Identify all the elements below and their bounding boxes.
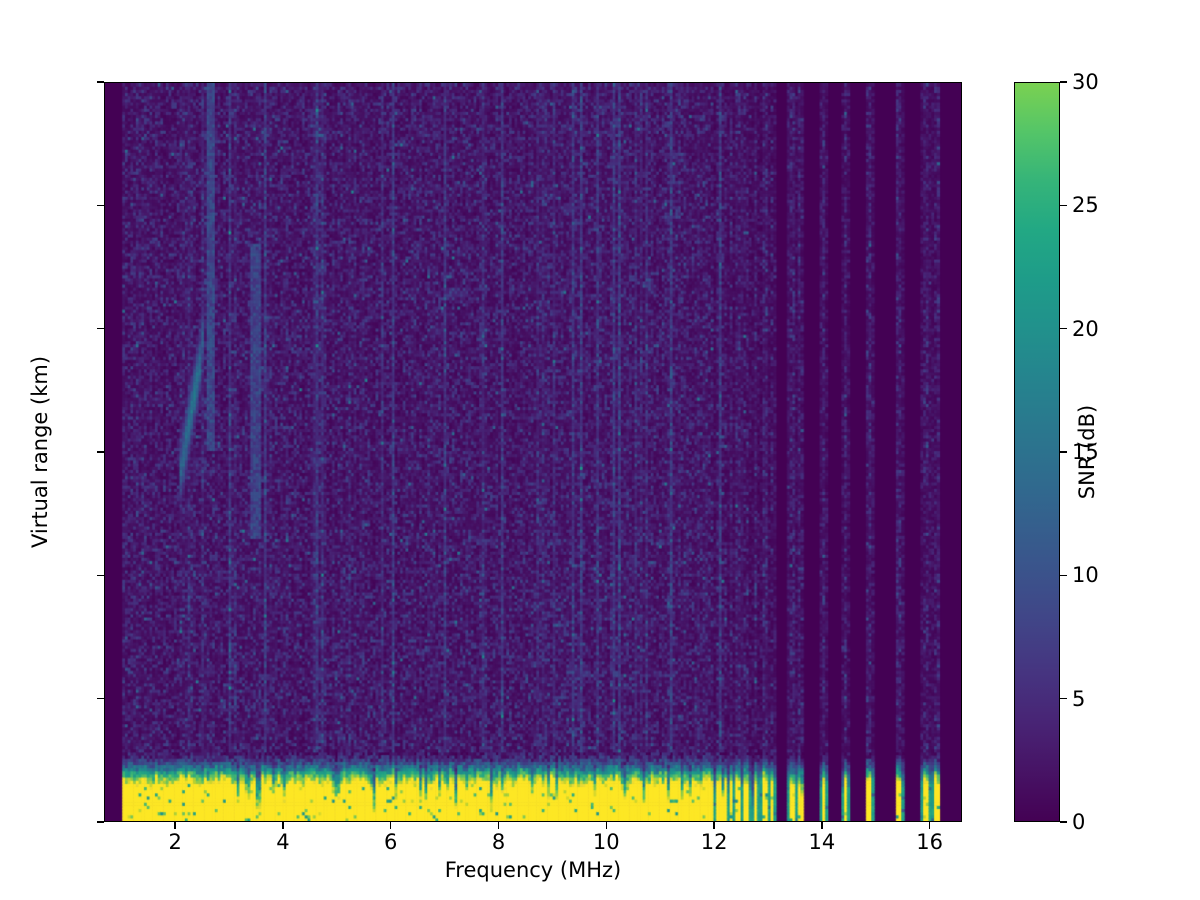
y-axis-label: Virtual range (km) <box>28 356 52 548</box>
y-tick-mark <box>97 698 104 699</box>
colorbar-tick-label: 25 <box>1072 195 1142 216</box>
x-tick-mark <box>821 822 822 829</box>
y-tick-mark <box>97 81 104 82</box>
x-tick-mark <box>282 822 283 829</box>
colorbar <box>1014 82 1060 822</box>
x-tick-label: 10 <box>566 832 646 853</box>
colorbar-tick-mark <box>1060 451 1067 452</box>
x-tick-label: 4 <box>243 832 323 853</box>
colorbar-tick-label: 10 <box>1072 565 1142 586</box>
x-tick-mark <box>606 822 607 829</box>
colorbar-gradient <box>1015 83 1059 821</box>
colorbar-tick-label: 20 <box>1072 319 1142 340</box>
x-tick-mark <box>929 822 930 829</box>
x-tick-label: 14 <box>782 832 862 853</box>
y-tick-mark <box>97 451 104 452</box>
x-tick-label: 6 <box>351 832 431 853</box>
colorbar-tick-label: 30 <box>1072 72 1142 93</box>
ionogram-axes <box>104 82 962 822</box>
colorbar-tick-mark <box>1060 821 1067 822</box>
colorbar-tick-label: 5 <box>1072 689 1142 710</box>
colorbar-tick-mark <box>1060 81 1067 82</box>
x-tick-mark <box>713 822 714 829</box>
colorbar-tick-mark <box>1060 328 1067 329</box>
x-tick-mark <box>390 822 391 829</box>
x-tick-label: 8 <box>459 832 539 853</box>
x-tick-label: 16 <box>890 832 970 853</box>
x-axis-label: Frequency (MHz) <box>104 858 962 882</box>
ionogram-heatmap <box>105 83 961 821</box>
colorbar-tick-label: 0 <box>1072 812 1142 833</box>
x-tick-mark <box>174 822 175 829</box>
y-tick-mark <box>97 575 104 576</box>
colorbar-tick-mark <box>1060 698 1067 699</box>
y-tick-mark <box>97 821 104 822</box>
y-tick-mark <box>97 328 104 329</box>
colorbar-tick-mark <box>1060 575 1067 576</box>
x-tick-label: 12 <box>674 832 754 853</box>
x-tick-mark <box>498 822 499 829</box>
x-tick-label: 2 <box>135 832 215 853</box>
ionogram-figure: IRF Kiruna Ionosonde KI167 2026-02-01 18… <box>0 0 1200 900</box>
colorbar-tick-label: 15 <box>1072 442 1142 463</box>
y-tick-mark <box>97 205 104 206</box>
y-axis-label-wrap: Virtual range (km) <box>12 82 42 822</box>
colorbar-tick-mark <box>1060 205 1067 206</box>
